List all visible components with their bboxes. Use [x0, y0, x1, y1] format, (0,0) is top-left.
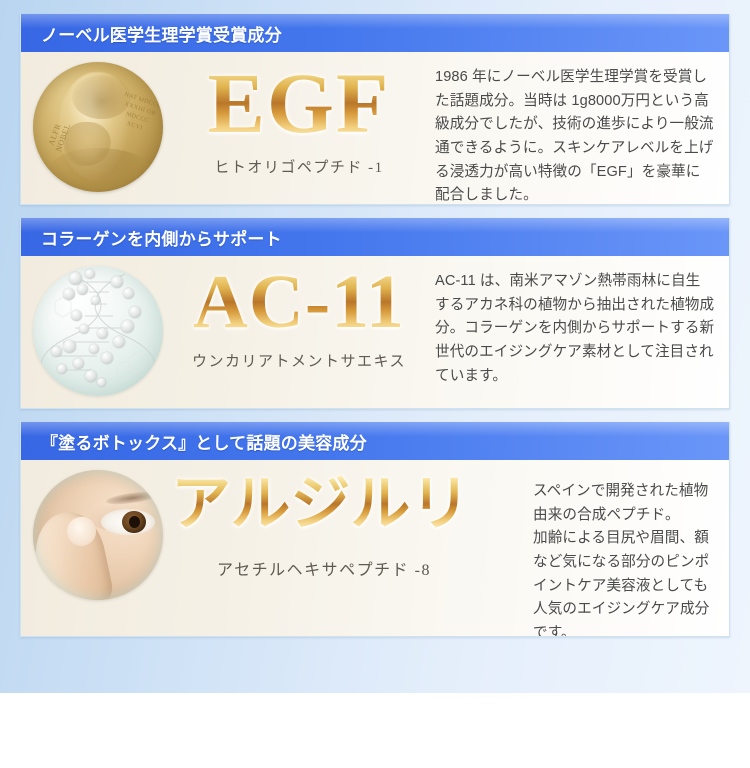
ingredient-inci-name: ウンカリアトメントサエキス	[171, 350, 427, 371]
visual-argireline	[25, 462, 171, 608]
ingredient-card-list: ノーベル医学生理学賞受賞成分 ALFR NOBEL NAT MDCCC XXXI…	[20, 14, 730, 650]
ingredient-card-egf: ノーベル医学生理学賞受賞成分 ALFR NOBEL NAT MDCCC XXXI…	[20, 14, 730, 205]
card-body-ac11: AC-11 ウンカリアトメントサエキス AC-11 は、南米アマゾン熱帯雨林に自…	[21, 256, 729, 408]
atom	[111, 276, 123, 288]
atom	[71, 310, 82, 321]
ingredient-description: AC-11 は、南米アマゾン熱帯雨林に自生するアカネ科の植物から抽出された植物成…	[427, 256, 729, 388]
molecule-sphere-icon	[33, 266, 163, 396]
atom	[51, 346, 62, 357]
ingredient-card-ac11: コラーゲンを内側からサポート	[20, 218, 730, 409]
atom	[63, 340, 76, 353]
nobel-medal-icon: ALFR NOBEL NAT MDCCC XXXIII OB MDCCC XCV…	[33, 62, 163, 192]
atom	[85, 370, 97, 382]
card-header-title: コラーゲンを内側からサポート	[21, 225, 282, 250]
card-header-argireline: 『塗るボトックス』として話題の美容成分	[21, 422, 729, 460]
ingredient-card-argireline: 『塗るボトックス』として話題の美容成分	[20, 422, 730, 637]
titles-egf: EGF ヒトオリゴペプチド -1	[171, 52, 427, 177]
atom	[101, 352, 113, 364]
ingredient-inci-name: ヒトオリゴペプチド -1	[171, 156, 427, 177]
ingredient-description: 1986 年にノーベル医学生理学賞を受賞した話題成分。当時は 1g8000万円と…	[427, 52, 729, 205]
atom	[85, 269, 95, 279]
atom	[97, 328, 108, 339]
visual-ac11	[25, 258, 171, 404]
eye-photo-icon	[33, 470, 163, 600]
card-header-ac11: コラーゲンを内側からサポート	[21, 218, 729, 256]
atom	[123, 288, 134, 299]
atom	[129, 306, 141, 318]
ingredient-name: アルジルリン	[171, 474, 477, 534]
visual-egf: ALFR NOBEL NAT MDCCC XXXIII OB MDCCC XCV…	[25, 54, 171, 200]
atom	[97, 378, 106, 387]
ingredient-name: AC-11	[171, 264, 427, 340]
card-body-egf: ALFR NOBEL NAT MDCCC XXXIII OB MDCCC XCV…	[21, 52, 729, 204]
atom	[121, 320, 134, 333]
atom	[89, 344, 99, 354]
atom	[77, 284, 88, 295]
ingredient-inci-name: アセチルヘキサペプチド -8	[171, 556, 477, 580]
titles-ac11: AC-11 ウンカリアトメントサエキス	[171, 256, 427, 371]
ingredients-page: ノーベル医学生理学賞受賞成分 ALFR NOBEL NAT MDCCC XXXI…	[0, 0, 750, 768]
atom	[113, 336, 125, 348]
atom	[69, 272, 82, 285]
atom	[63, 288, 75, 300]
atom	[73, 358, 84, 369]
atom	[91, 296, 100, 305]
atom	[57, 364, 67, 374]
card-header-egf: ノーベル医学生理学賞受賞成分	[21, 14, 729, 52]
titles-argireline: アルジルリン アセチルヘキサペプチド -8	[171, 460, 477, 580]
circle-vignette	[33, 470, 163, 600]
card-body-argireline: アルジルリン アセチルヘキサペプチド -8 スペインで開発された植物由来の合成ペ…	[21, 460, 729, 636]
card-header-title: ノーベル医学生理学賞受賞成分	[21, 21, 282, 46]
card-header-title: 『塗るボトックス』として話題の美容成分	[21, 429, 367, 454]
atom	[79, 324, 89, 334]
ingredient-name: EGF	[171, 60, 427, 146]
